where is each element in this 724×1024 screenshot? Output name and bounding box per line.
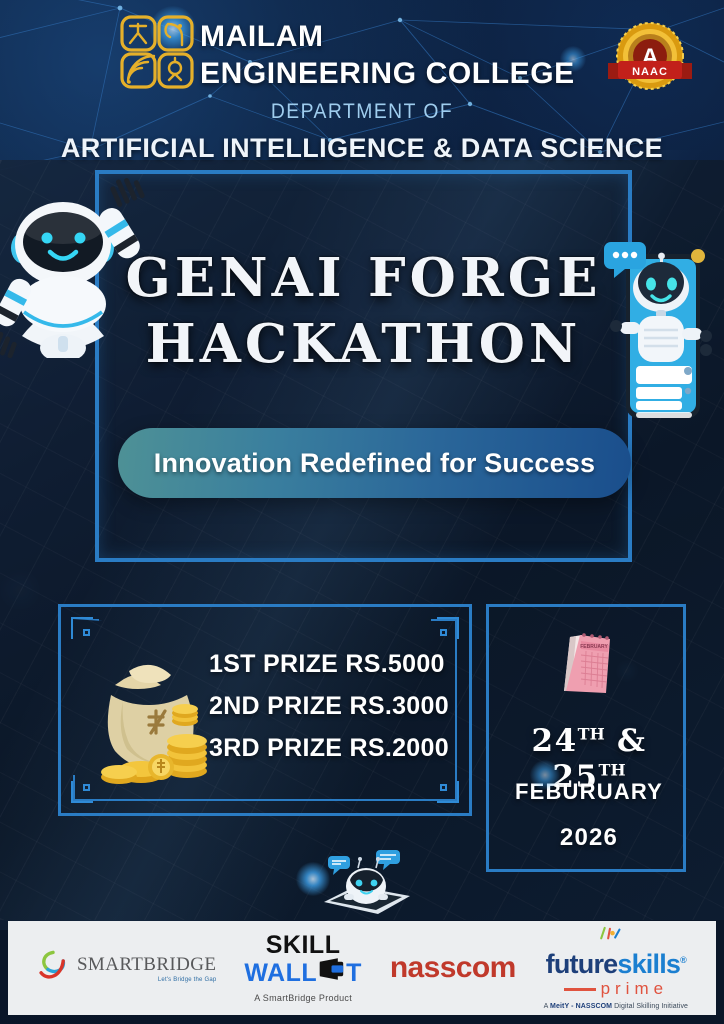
calendar-month-label: FEBRUARY bbox=[580, 644, 608, 650]
tagline-text: Innovation Redefined for Success bbox=[154, 448, 596, 479]
event-title: GENAI FORGE HACKATHON bbox=[95, 245, 632, 377]
event-title-line2: HACKATHON bbox=[95, 311, 632, 377]
poster-root: MAILAM ENGINEERING COLLEGE A NAAC bbox=[0, 0, 724, 1024]
skill-wallet-line2b: T bbox=[346, 961, 362, 986]
smartbridge-swirl-icon bbox=[36, 947, 70, 990]
futureskills-tagline: A MeitY - NASSCOM Digital Skilling Initi… bbox=[544, 1003, 688, 1010]
college-name: MAILAM ENGINEERING COLLEGE bbox=[200, 18, 620, 92]
futureskills-name-b: skills bbox=[617, 949, 680, 979]
futureskills-prime-word: prime bbox=[601, 979, 669, 999]
event-date-month: FEBURUARY bbox=[489, 779, 689, 805]
skill-wallet-icon bbox=[318, 958, 345, 988]
chatbot-phone-robot-icon bbox=[594, 238, 720, 424]
sponsor-smartbridge[interactable]: SMARTBRIDGE Let's Bridge the Gap bbox=[36, 947, 216, 990]
sponsor-bar: SMARTBRIDGE Let's Bridge the Gap SKILL W… bbox=[8, 921, 716, 1015]
corner-nub-br bbox=[440, 784, 447, 791]
money-bag-coins-icon bbox=[89, 645, 211, 785]
naac-accreditation-badge-icon: A NAAC bbox=[604, 16, 696, 102]
prize-panel: 1ST PRIZE RS.5000 2ND PRIZE RS.3000 3RD … bbox=[58, 604, 472, 816]
futureskills-dash bbox=[564, 988, 596, 991]
event-date-panel: FEBRUARY 24TH & 25TH FEBURUARY 2026 bbox=[486, 604, 686, 872]
date-day-second-suffix: TH bbox=[599, 761, 626, 780]
prize-item-2: 2ND PRIZE RS.3000 bbox=[209, 685, 455, 727]
event-date-year: 2026 bbox=[489, 824, 689, 852]
skill-wallet-line1: SKILL bbox=[266, 933, 341, 958]
smartbridge-name: SMARTBRIDGE bbox=[77, 954, 216, 975]
college-name-line2: ENGINEERING COLLEGE bbox=[200, 55, 620, 92]
event-title-line1: GENAI FORGE bbox=[126, 247, 602, 309]
skill-wallet-tagline: A SmartBridge Product bbox=[254, 993, 352, 1003]
corner-nub-bl bbox=[83, 784, 90, 791]
date-day-first-suffix: TH bbox=[578, 725, 605, 744]
college-name-line1: MAILAM bbox=[200, 20, 324, 53]
futureskills-prime-icon bbox=[596, 926, 636, 947]
sponsor-skill-wallet[interactable]: SKILL WALL T A SmartBridge Product bbox=[244, 933, 362, 1003]
futureskills-registered: ® bbox=[680, 955, 686, 965]
corner-nub-tl bbox=[83, 629, 90, 636]
poster-header: MAILAM ENGINEERING COLLEGE A NAAC bbox=[0, 0, 724, 168]
prize-list: 1ST PRIZE RS.5000 2ND PRIZE RS.3000 3RD … bbox=[209, 643, 455, 769]
tagline-pill: Innovation Redefined for Success bbox=[118, 428, 631, 498]
date-day-first: 24 bbox=[532, 723, 578, 759]
waving-robot-mascot-icon bbox=[0, 176, 160, 358]
prize-item-1: 1ST PRIZE RS.5000 bbox=[209, 643, 455, 685]
mailam-college-logo-icon bbox=[118, 14, 196, 90]
fs-tag-post: Digital Skilling Initiative bbox=[612, 1003, 688, 1010]
smartbridge-tagline: Let's Bridge the Gap bbox=[77, 977, 216, 983]
fs-tag-bold: MeitY - NASSCOM bbox=[550, 1003, 612, 1010]
prize-item-3: 3RD PRIZE RS.2000 bbox=[209, 727, 455, 769]
sponsor-nasscom[interactable]: nasscom bbox=[390, 951, 516, 985]
sponsor-futureskills-prime[interactable]: futureskills® prime A MeitY - NASSCOM Di… bbox=[544, 926, 688, 1010]
skill-wallet-line2a: WALL bbox=[244, 961, 317, 986]
futureskills-name-a: future bbox=[546, 949, 618, 979]
svg-text:NAAC: NAAC bbox=[632, 66, 668, 78]
department-name: ARTIFICIAL INTELLIGENCE & DATA SCIENCE bbox=[0, 133, 724, 164]
glow-node-bottomleft bbox=[296, 862, 330, 896]
glow-node-datepanel-2 bbox=[530, 760, 560, 790]
nasscom-logo-icon: nasscom bbox=[390, 951, 516, 985]
desk-calendar-icon: FEBRUARY bbox=[548, 625, 624, 699]
corner-nub-tr bbox=[440, 629, 447, 636]
date-day-separator: & bbox=[617, 723, 647, 759]
department-prefix: DEPARTMENT OF bbox=[29, 100, 695, 124]
